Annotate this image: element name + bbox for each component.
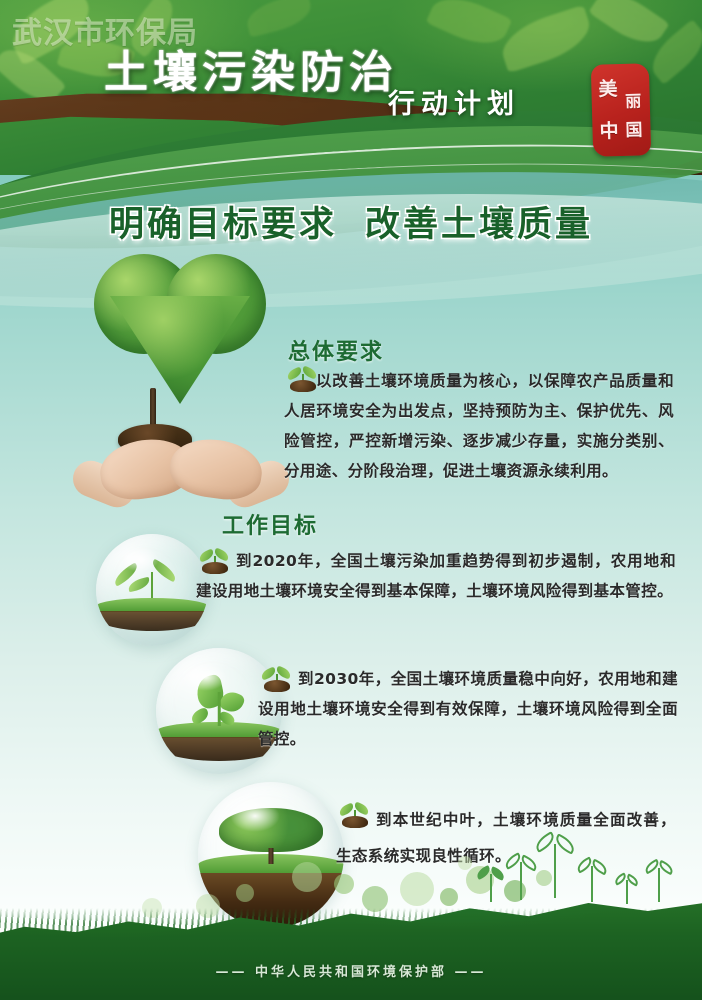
outline-sprout-icon	[538, 836, 572, 898]
outline-sprout-icon	[506, 854, 536, 900]
decor-circle	[440, 888, 458, 906]
poster-root: 武汉市环保局 土壤污染防治 行动计划 美 丽 中 国 明确目标要求改善土壤质量 …	[0, 0, 702, 1000]
glass-bubble-sprout-illustration	[96, 534, 208, 646]
goal-text-2020: 到2020年，全国土壤污染加重趋势得到初步遏制，农用地和建设用地土壤环境安全得到…	[196, 546, 676, 606]
section-heading-overall-requirements: 总体要求	[288, 334, 384, 366]
heart-tree-canopy	[94, 254, 266, 404]
bubble-soil-layer	[96, 611, 208, 631]
outline-sprout-icon	[478, 866, 504, 902]
poster-footer: —— 中华人民共和国环境保护部 ——	[0, 961, 702, 980]
headline-right: 改善土壤质量	[365, 205, 593, 245]
bubble-mature-tree	[219, 808, 323, 860]
bubble-grass-layer	[96, 598, 208, 612]
decor-circle	[400, 872, 434, 906]
hands-holding-heart-tree-illustration	[66, 252, 296, 500]
seal-char-1: 美	[598, 80, 618, 99]
outline-sprout-icon	[578, 858, 606, 902]
decor-circle	[236, 884, 254, 902]
section-heading-work-goals: 工作目标	[222, 508, 318, 540]
beautiful-china-seal-icon: 美 丽 中 国	[591, 63, 651, 156]
bubble-seedling	[187, 678, 251, 726]
section-body-overall-requirements: 以改善土壤环境质量为核心，以保障农产品质量和人居环境安全为出发点，坚持预防为主、…	[284, 366, 674, 486]
decor-circle	[334, 874, 354, 894]
poster-headline: 明确目标要求改善土壤质量	[0, 196, 702, 247]
decor-circle	[292, 862, 322, 892]
seal-char-2: 丽	[625, 93, 641, 109]
seal-char-3: 中	[599, 122, 619, 141]
seal-char-4: 国	[625, 122, 642, 139]
bubble-sprout	[124, 566, 180, 598]
headline-left: 明确目标要求	[109, 205, 337, 245]
decor-circle	[458, 856, 472, 870]
poster-title: 土壤污染防治	[104, 36, 398, 100]
poster-subtitle: 行动计划	[388, 82, 520, 121]
outline-sprout-icon	[616, 874, 638, 904]
goal-text-2030: 到2030年，全国土壤环境质量稳中向好，农用地和建设用地土壤环境安全得到有效保障…	[258, 664, 678, 754]
outline-sprout-icon	[646, 860, 672, 902]
